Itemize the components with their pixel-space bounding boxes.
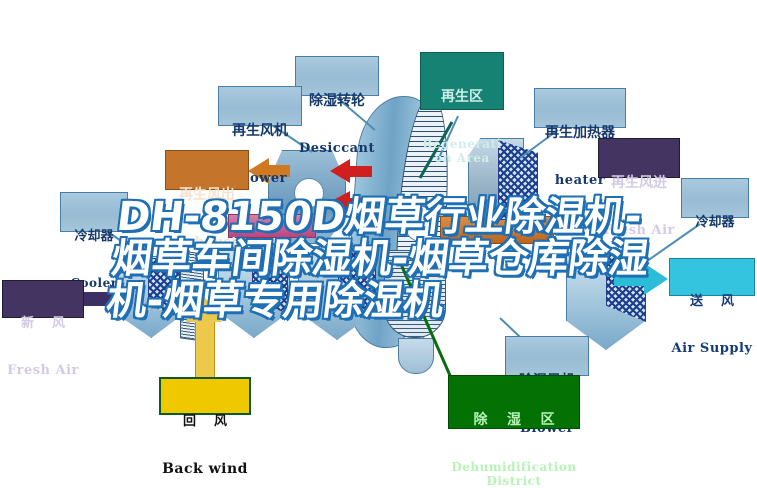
headline-overlay-text: DH-8150D烟草行业除湿机-烟草车间除湿机-烟草仓库除湿机-烟草专用除湿机 (104, 196, 659, 322)
label-fresh-air-in-cn: 新 风 (3, 317, 83, 331)
label-regeneration-fresh-air-in-cn: 再生风进 (599, 176, 679, 191)
back-wind-arrow-shaft (195, 320, 215, 378)
label-regeneration-area-cn: 再生区 (421, 90, 503, 105)
label-cooler-right: 冷却器 Cooler (681, 178, 749, 218)
label-regeneration-area: 再生区 Regenerati on Area (420, 52, 504, 110)
label-back-wind-en: Back wind (161, 462, 249, 477)
diagram-canvas: 除湿转轮 Desiccant 再生风机 Blower 再生区 Regenerat… (0, 0, 757, 488)
label-dehumidification-district: 除 湿 区 Dehumidification District (448, 375, 580, 429)
label-regeneration-fresh-air-in: 再生风进 Fresh Air (598, 138, 680, 178)
label-dehumidification-blower: 除湿风机 Blower (505, 336, 589, 376)
label-regeneration-blower-cn: 再生风机 (219, 124, 301, 139)
label-air-supply: 送 风 Air Supply (669, 258, 755, 296)
label-air-supply-en: Air Supply (670, 342, 754, 356)
label-desiccant-wheel: 除湿转轮 Desiccant (295, 56, 379, 96)
label-regeneration-heater: 再生加热器 heater (534, 88, 626, 128)
label-dehumidification-district-en: Dehumidification District (449, 461, 579, 488)
label-fresh-air-in-en: Fresh Air (3, 364, 83, 378)
label-regeneration-area-en: Regenerati on Area (421, 138, 503, 166)
label-cooler-right-cn: 冷却器 (682, 216, 748, 230)
dehumidifier-scoop-foot (398, 338, 434, 374)
label-dehumidification-district-cn: 除 湿 区 (449, 413, 579, 428)
label-air-supply-cn: 送 风 (670, 295, 754, 309)
label-desiccant-wheel-en: Desiccant (296, 142, 378, 156)
label-fresh-air-in: 新 风 Fresh Air (2, 280, 84, 318)
label-regeneration-exhaust: 再生风出 Exhaust (165, 150, 249, 190)
label-back-wind-cn: 回 风 (161, 415, 249, 429)
label-desiccant-wheel-cn: 除湿转轮 (296, 94, 378, 109)
label-regeneration-blower: 再生风机 Blower (218, 86, 302, 126)
label-back-wind: 回 风 Back wind (159, 377, 251, 415)
